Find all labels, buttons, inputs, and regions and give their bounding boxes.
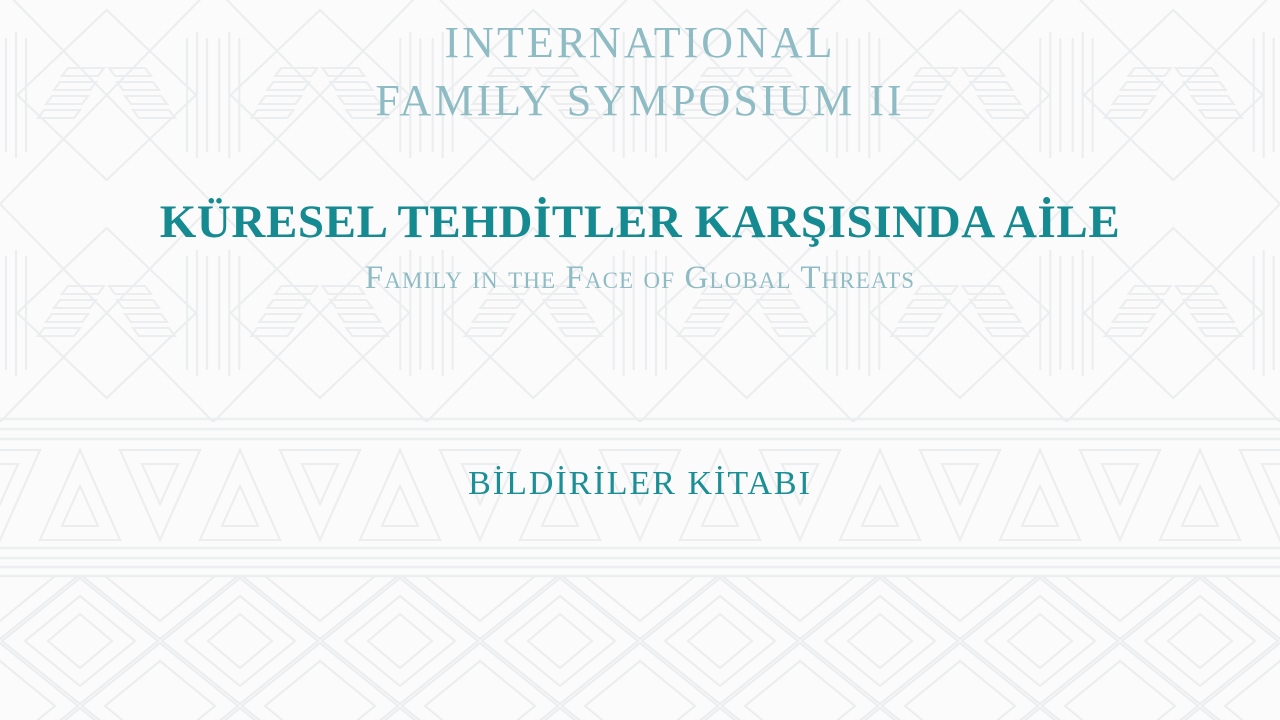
theme-title-turkish: KÜRESEL TEHDİTLER KARŞISINDA AİLE xyxy=(0,192,1280,252)
event-header-line-2: FAMILY SYMPOSIUM II xyxy=(0,72,1280,130)
book-cover: INTERNATIONAL FAMILY SYMPOSIUM II KÜRESE… xyxy=(0,0,1280,720)
event-header-line-1: INTERNATIONAL xyxy=(0,14,1280,72)
theme-title-english: Family in the Face of Global Threats xyxy=(0,258,1280,298)
publication-type-label: BİLDİRİLER KİTABI xyxy=(0,461,1280,507)
event-header: INTERNATIONAL FAMILY SYMPOSIUM II xyxy=(0,14,1280,130)
publication-type: BİLDİRİLER KİTABI xyxy=(0,461,1280,507)
bottom-ornament-pattern xyxy=(0,576,1280,720)
symposium-theme-block: KÜRESEL TEHDİTLER KARŞISINDA AİLE Family… xyxy=(0,192,1280,298)
